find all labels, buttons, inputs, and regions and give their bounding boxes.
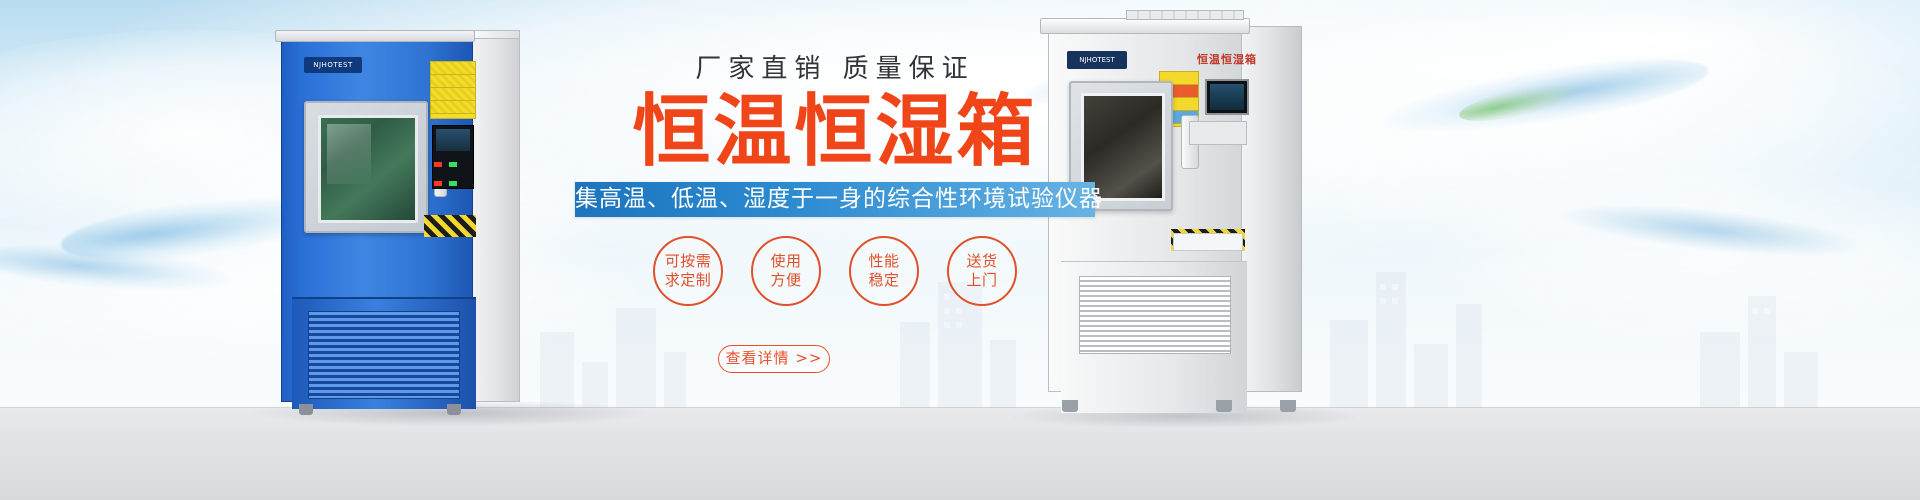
controller-screen	[436, 129, 470, 151]
feature-circle-line1: 可按需	[665, 252, 712, 271]
left-chamber-control-panel	[432, 125, 474, 189]
feature-circle-line1: 送货	[966, 252, 997, 271]
feature-circle-stable-performance[interactable]: 性能 稳定	[849, 236, 919, 306]
left-chamber-side-panel	[471, 30, 520, 402]
feature-circle-line1: 性能	[868, 252, 899, 271]
feature-circle-line2: 方便	[770, 271, 801, 290]
feature-circle-line2: 上门	[966, 271, 997, 290]
right-chamber-top-grille	[1126, 10, 1244, 20]
right-chamber-foot	[1216, 400, 1232, 412]
feature-circle-line2: 求定制	[665, 271, 712, 290]
left-chamber-top-cap	[275, 30, 475, 42]
right-chamber-brand-text: 恒温恒湿箱	[1197, 51, 1259, 67]
right-chamber-spec-plate	[1189, 121, 1247, 145]
left-chamber-front-panel: NJHOTEST	[281, 38, 473, 402]
status-led-green	[449, 181, 457, 186]
feature-circle-delivery[interactable]: 送货 上门	[947, 236, 1017, 306]
promo-banner: NJHOTEST	[0, 0, 1920, 500]
right-chamber-controller-screen	[1205, 79, 1249, 115]
left-chamber-ventilation-grille	[308, 311, 460, 399]
right-chamber-side-panel	[1240, 26, 1302, 392]
right-chamber-machine-base	[1061, 261, 1247, 413]
feature-circle-easy-use[interactable]: 使用 方便	[751, 236, 821, 306]
feature-circle-custom[interactable]: 可按需 求定制	[653, 236, 723, 306]
left-chamber-brand-logo: NJHOTEST	[304, 57, 362, 73]
product-image-left-chamber: NJHOTEST	[275, 30, 520, 405]
left-chamber-machine-base	[292, 297, 476, 409]
status-led-red	[434, 181, 442, 186]
left-chamber-top-edge	[471, 30, 520, 39]
banner-text-block: 厂家直销 质量保证 恒温恒湿箱 集高温、低温、湿度于一身的综合性环境试验仪器	[575, 52, 1095, 217]
banner-headline: 恒温恒湿箱	[575, 88, 1095, 176]
banner-tagline: 厂家直销 质量保证	[575, 52, 1095, 86]
right-chamber-ventilation-grille	[1079, 276, 1231, 354]
right-chamber-foot	[1062, 400, 1078, 412]
left-chamber-foot	[299, 404, 313, 415]
left-chamber-foot	[447, 404, 461, 415]
feature-circle-line2: 稳定	[868, 271, 899, 290]
glass-glare	[327, 124, 371, 184]
left-chamber-door	[304, 101, 428, 233]
warning-label-icon	[430, 61, 476, 119]
left-chamber-viewing-window	[318, 115, 418, 223]
horizon-line	[0, 407, 1920, 408]
floor-surface	[0, 408, 1920, 500]
status-led-green	[449, 162, 457, 167]
view-details-button[interactable]: 查看详情 >>	[718, 345, 830, 373]
right-chamber-foot	[1280, 400, 1296, 412]
feature-circle-list: 可按需 求定制 使用 方便 性能 稳定 送货 上门	[600, 233, 1070, 309]
right-chamber-top-cap	[1040, 18, 1250, 34]
right-chamber-info-sticker	[1173, 233, 1243, 251]
status-led-red	[434, 162, 442, 167]
banner-subtitle: 集高温、低温、湿度于一身的综合性环境试验仪器	[575, 182, 1095, 217]
feature-circle-line1: 使用	[770, 252, 801, 271]
hazard-stripe-label	[424, 215, 476, 237]
